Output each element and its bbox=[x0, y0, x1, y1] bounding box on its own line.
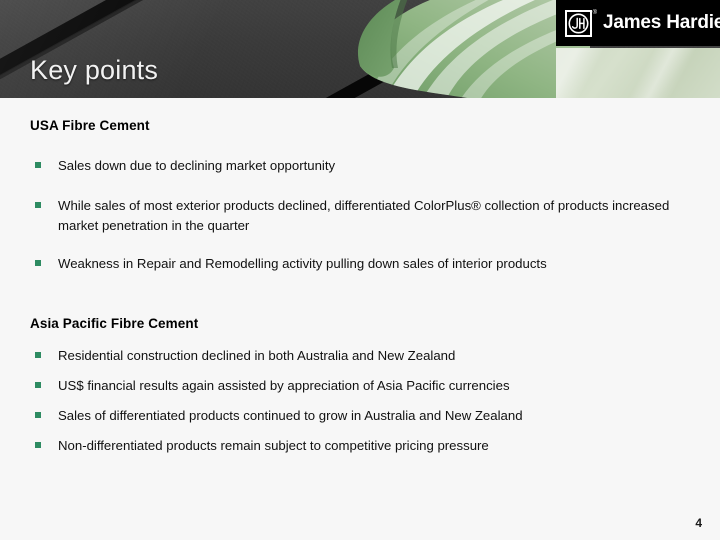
page-number: 4 bbox=[695, 516, 702, 530]
bullet-square-icon bbox=[35, 162, 41, 168]
bullet-square-icon bbox=[35, 442, 41, 448]
green-accent-panel bbox=[556, 48, 720, 98]
bullet-square-icon bbox=[35, 260, 41, 266]
list-item: Sales of differentiated products continu… bbox=[35, 406, 685, 426]
list-item: Sales down due to declining market oppor… bbox=[35, 156, 685, 176]
bullet-text: Residential construction declined in bot… bbox=[58, 346, 685, 366]
list-item: Residential construction declined in bot… bbox=[35, 346, 685, 366]
bullet-text: Non-differentiated products remain subje… bbox=[58, 436, 685, 456]
bullet-text: Weakness in Repair and Remodelling activ… bbox=[58, 254, 685, 274]
bullet-square-icon bbox=[35, 412, 41, 418]
bullet-text: Sales of differentiated products continu… bbox=[58, 406, 685, 426]
green-panel-sheen bbox=[556, 48, 720, 98]
bullet-square-icon bbox=[35, 202, 41, 208]
section-heading-asia-pacific: Asia Pacific Fibre Cement bbox=[30, 316, 198, 331]
list-item: Weakness in Repair and Remodelling activ… bbox=[35, 254, 685, 274]
list-item: US$ financial results again assisted by … bbox=[35, 376, 685, 396]
slide: ® James Hardie Key points USA Fibre Ceme… bbox=[0, 0, 720, 540]
page-title: Key points bbox=[30, 55, 158, 86]
list-item: While sales of most exterior products de… bbox=[35, 196, 685, 237]
bullet-text: US$ financial results again assisted by … bbox=[58, 376, 685, 396]
leaf-graphic bbox=[330, 0, 590, 98]
section-heading-usa: USA Fibre Cement bbox=[30, 118, 150, 133]
registered-trademark-symbol: ® bbox=[593, 10, 597, 16]
list-item: Non-differentiated products remain subje… bbox=[35, 436, 685, 456]
bullet-square-icon bbox=[35, 352, 41, 358]
brand-name: James Hardie bbox=[603, 12, 720, 34]
brand-logo: ® James Hardie bbox=[556, 0, 720, 46]
slide-header-banner: ® James Hardie Key points bbox=[0, 0, 720, 98]
bullet-text: Sales down due to declining market oppor… bbox=[58, 156, 685, 176]
bullet-square-icon bbox=[35, 382, 41, 388]
bullet-text: While sales of most exterior products de… bbox=[58, 196, 685, 237]
james-hardie-monogram-icon: ® bbox=[565, 10, 592, 37]
